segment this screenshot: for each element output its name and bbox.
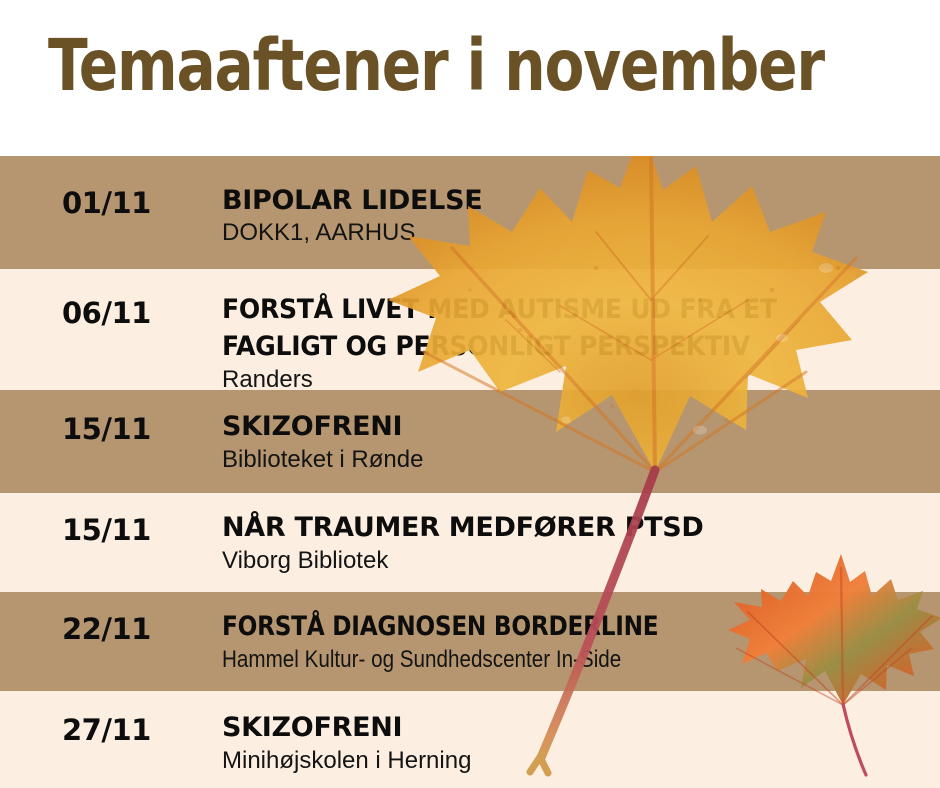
page-title: Temaaftener i november <box>48 24 824 108</box>
event-date: 22/11 <box>62 612 151 646</box>
event-title: FORSTÅ LIVET MED AUTISME UD FRA ET FAGLI… <box>222 291 836 365</box>
event-title: SKIZOFRENI <box>222 408 920 445</box>
event-row: 22/11 FORSTÅ DIAGNOSEN BORDERLINE Hammel… <box>0 592 940 691</box>
poster-header: Temaaftener i november <box>0 0 940 156</box>
event-date: 06/11 <box>62 296 151 330</box>
event-date: 15/11 <box>62 513 151 547</box>
poster-canvas: 01/11 BIPOLAR LIDELSE DOKK1, AARHUS 06/1… <box>0 0 940 788</box>
event-title: SKIZOFRENI <box>222 709 920 746</box>
event-row: 15/11 NÅR TRAUMER MEDFØRER PTSD Viborg B… <box>0 493 940 592</box>
event-row: 15/11 SKIZOFRENI Biblioteket i Rønde <box>0 390 940 493</box>
event-venue: Hammel Kultur- og Sundhedscenter In-Side <box>222 645 822 675</box>
event-date: 15/11 <box>62 412 151 446</box>
event-date: 27/11 <box>62 713 151 747</box>
event-row: 01/11 BIPOLAR LIDELSE DOKK1, AARHUS <box>0 156 940 269</box>
event-row: 27/11 SKIZOFRENI Minihøjskolen i Herning <box>0 691 940 788</box>
event-title: BIPOLAR LIDELSE <box>222 182 920 219</box>
event-venue: Biblioteket i Rønde <box>222 445 920 475</box>
event-venue: Viborg Bibliotek <box>222 546 920 576</box>
event-venue: DOKK1, AARHUS <box>222 218 920 248</box>
event-title: NÅR TRAUMER MEDFØRER PTSD <box>222 509 920 546</box>
event-row: 06/11 FORSTÅ LIVET MED AUTISME UD FRA ET… <box>0 269 940 390</box>
event-title: FORSTÅ DIAGNOSEN BORDERLINE <box>222 608 822 645</box>
event-venue: Minihøjskolen i Herning <box>222 746 920 776</box>
event-list: 01/11 BIPOLAR LIDELSE DOKK1, AARHUS 06/1… <box>0 156 940 788</box>
event-date: 01/11 <box>62 186 151 220</box>
